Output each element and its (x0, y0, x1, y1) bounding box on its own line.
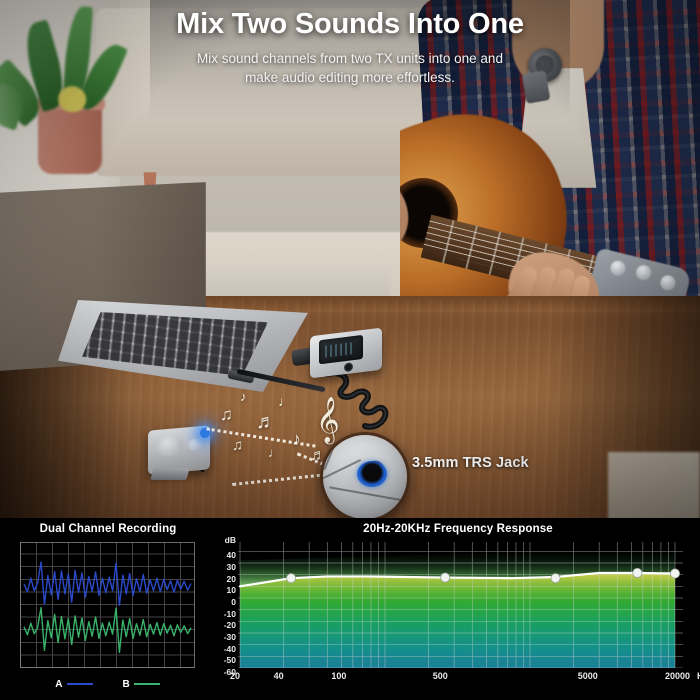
legend-item-a: A (55, 679, 92, 690)
frequency-x-tick: 500 (433, 672, 448, 681)
frequency-y-tick: -40 (224, 645, 236, 654)
frequency-y-tick: -30 (224, 633, 236, 642)
coiled-cable (321, 370, 391, 432)
frequency-y-tick: 0 (231, 598, 236, 607)
page-subtitle-line2: make audio editing more effortless. (150, 69, 550, 87)
plant-pot (38, 102, 102, 174)
frequency-x-tick: 100 (331, 672, 346, 681)
frequency-x-tick: 40 (274, 672, 284, 681)
lifestyle-photo: ♫ ♪ ♬ ♩ 𝄞 ♪ ♫ ♩ ♬ 3.5mm TRS Jack Mix Two… (0, 0, 700, 520)
dual-channel-waveforms (20, 542, 195, 668)
dual-channel-chart (20, 542, 195, 668)
dual-channel-chart-title: Dual Channel Recording (0, 523, 216, 535)
frequency-y-axis-unit: dB (225, 536, 236, 545)
product-infographic: ♫ ♪ ♬ ♩ 𝄞 ♪ ♫ ♩ ♬ 3.5mm TRS Jack Mix Two… (0, 0, 700, 700)
legend-label-b: B (123, 679, 130, 690)
legend-label-a: A (55, 679, 62, 690)
dual-channel-legend: A B (20, 676, 195, 692)
legend-swatch-b (134, 683, 160, 685)
magnifier-callout (320, 432, 410, 520)
rx-audio-port (344, 362, 353, 372)
tx-secondary-button (188, 438, 202, 451)
frequency-response-curve (238, 542, 683, 668)
frequency-y-tick: 10 (227, 586, 236, 595)
charts-strip: Dual Channel Recording 20Hz-20KHz Freque… (0, 518, 700, 700)
frequency-response-chart-title: 20Hz-20KHz Frequency Response (216, 523, 700, 535)
carpet-corner (608, 452, 700, 520)
frequency-x-axis-labels: 2040100500500020000Hz (238, 672, 700, 686)
frequency-y-tick: 20 (227, 575, 236, 584)
frequency-y-tick: -10 (224, 610, 236, 619)
trs-jack-port (357, 461, 387, 487)
legend-swatch-a (67, 683, 93, 685)
frequency-x-tick: 20000 (665, 672, 690, 681)
frequency-x-tick: 20 (230, 672, 240, 681)
frequency-y-tick: 30 (227, 563, 236, 572)
frequency-plot-area (238, 542, 683, 668)
page-title: Mix Two Sounds Into One (150, 8, 550, 40)
tx-clip (150, 468, 189, 480)
trs-jack-label: 3.5mm TRS Jack (412, 455, 529, 471)
tx-button (156, 435, 183, 457)
rx-receiver-unit (310, 328, 382, 379)
frequency-y-tick: -50 (224, 656, 236, 665)
frequency-y-tick: 40 (227, 551, 236, 560)
frequency-y-axis-labels: dB403020100-10-20-30-40-50-60 (216, 536, 236, 672)
frequency-response-chart (238, 542, 683, 668)
frequency-y-tick: -20 (224, 621, 236, 630)
frequency-x-tick: 5000 (578, 672, 598, 681)
rx-display (319, 335, 363, 364)
page-subtitle-line1: Mix sound channels from two TX units int… (150, 50, 550, 68)
legend-item-b: B (123, 679, 160, 690)
